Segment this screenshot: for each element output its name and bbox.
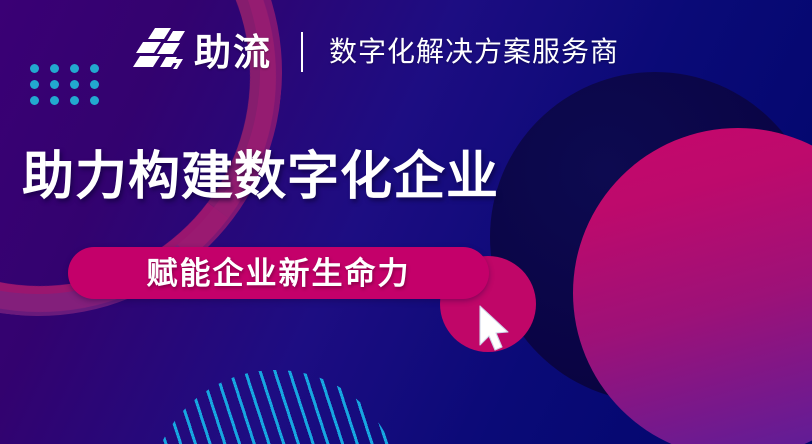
cyan-dot-grid <box>30 64 110 112</box>
grid-dot <box>30 80 39 89</box>
slogan-pill-label: 赋能企业新生命力 <box>147 258 411 289</box>
header-tagline: 数字化解决方案服务商 <box>329 38 619 66</box>
grid-dot <box>30 96 39 105</box>
page-title: 助力构建数字化企业 <box>22 150 499 205</box>
slogan-pill-button[interactable]: 赋能企业新生命力 <box>68 247 489 299</box>
grid-dot <box>70 80 79 89</box>
grid-dot <box>70 96 79 105</box>
cyan-striped-circle-shape <box>150 370 402 444</box>
lightning-bolt-blocks-icon <box>133 28 185 76</box>
logo-wordmark: 助流 <box>194 34 272 71</box>
promo-banner: 助流 数字化解决方案服务商 助力构建数字化企业 赋能企业新生命力 <box>0 0 812 444</box>
grid-dot <box>50 96 59 105</box>
grid-dot <box>70 64 79 73</box>
grid-dot <box>90 96 99 105</box>
grid-dot <box>90 64 99 73</box>
grid-dot <box>50 80 59 89</box>
grid-dot <box>90 80 99 89</box>
grid-dot <box>50 64 59 73</box>
brand-header: 助流 数字化解决方案服务商 <box>133 24 619 80</box>
header-divider <box>301 32 303 72</box>
grid-dot <box>30 64 39 73</box>
